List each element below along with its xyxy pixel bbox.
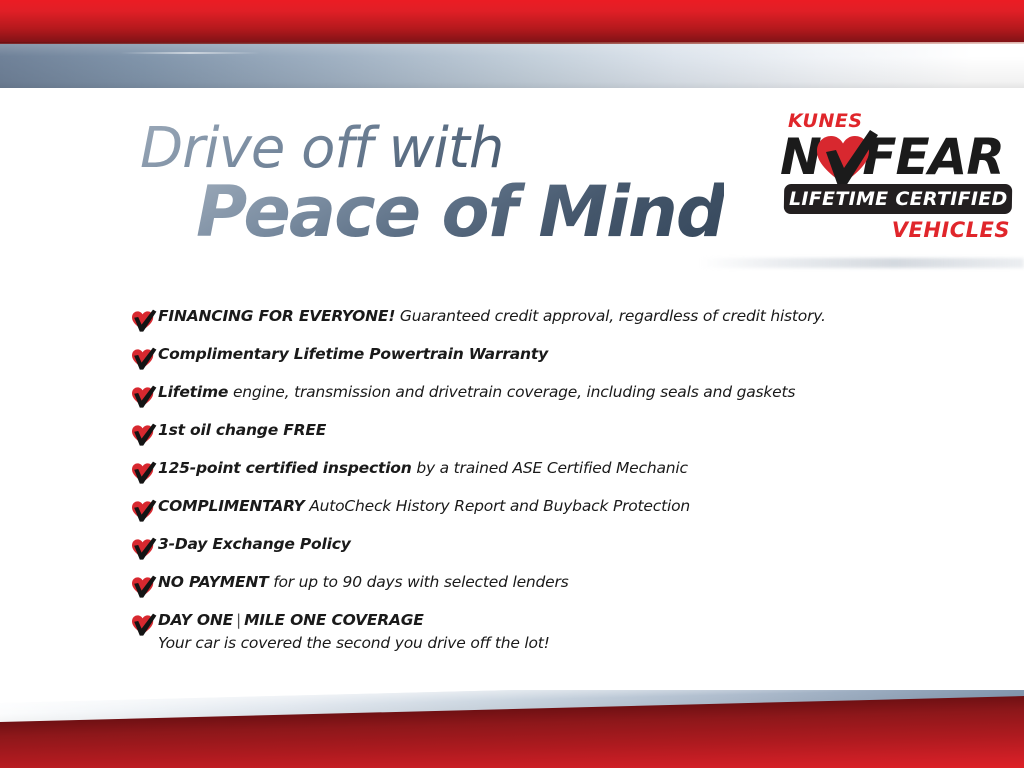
benefit-rest: engine, transmission and drivetrain cove… — [228, 383, 795, 401]
benefit-day-one-part-a: DAY ONE — [158, 611, 233, 629]
benefit-strong: NO PAYMENT — [158, 573, 268, 591]
benefit-strong: 125-point certified inspection — [158, 459, 412, 477]
heart-check-bullet-icon — [130, 385, 158, 409]
heart-check-icon — [812, 130, 878, 188]
heart-check-bullet-icon — [130, 613, 158, 637]
benefit-row: Complimentary Lifetime Powertrain Warran… — [130, 346, 930, 371]
benefit-day-one-separator: | — [233, 611, 244, 629]
heart-check-bullet-icon — [130, 423, 158, 447]
promo-page: Drive off with Peace of Mind KUNES NOFEA… — [0, 0, 1024, 768]
top-red-band — [0, 0, 1024, 43]
benefit-strong: 3-Day Exchange Policy — [158, 535, 351, 553]
benefit-text: FINANCING FOR EVERYONE! Guaranteed credi… — [158, 308, 826, 326]
benefit-row: 125-point certified inspection by a trai… — [130, 460, 930, 485]
benefits-list: FINANCING FOR EVERYONE! Guaranteed credi… — [130, 308, 930, 652]
benefit-rest: Guaranteed credit approval, regardless o… — [395, 307, 826, 325]
heart-check-bullet-icon — [130, 499, 158, 523]
kunes-no-fear-logo: KUNES NOFEAR LIFETIME CERTIFIED VEHICLES — [778, 108, 1016, 248]
benefit-row: 3-Day Exchange Policy — [130, 536, 930, 561]
benefit-row: FINANCING FOR EVERYONE! Guaranteed credi… — [130, 308, 930, 333]
benefit-strong: COMPLIMENTARY — [158, 497, 304, 515]
benefit-row: 1st oil change FREE — [130, 422, 930, 447]
benefit-text: 1st oil change FREE — [158, 422, 326, 440]
benefit-row: NO PAYMENT for up to 90 days with select… — [130, 574, 930, 599]
benefit-text: 125-point certified inspection by a trai… — [158, 460, 688, 478]
benefit-text: Complimentary Lifetime Powertrain Warran… — [158, 346, 548, 364]
benefit-strong: FINANCING FOR EVERYONE! — [158, 307, 395, 325]
benefit-rest: for up to 90 days with selected lenders — [268, 573, 568, 591]
top-gray-band-highlight — [120, 52, 260, 54]
logo-lifetime-certified-text: LIFETIME CERTIFIED — [789, 188, 1008, 210]
benefit-strong: 1st oil change FREE — [158, 421, 326, 439]
heart-check-bullet-icon — [130, 575, 158, 599]
benefit-strong: Complimentary Lifetime Powertrain Warran… — [158, 345, 548, 363]
logo-vehicles-text: VEHICLES — [892, 218, 1010, 242]
heart-check-bullet-icon — [130, 347, 158, 371]
benefit-day-one-part-b: MILE ONE COVERAGE — [244, 611, 424, 629]
top-gray-band-shading — [0, 44, 1024, 88]
headline-block: Drive off with Peace of Mind — [140, 122, 724, 246]
benefit-text: 3-Day Exchange Policy — [158, 536, 351, 554]
benefit-text: Lifetime engine, transmission and drivet… — [158, 384, 795, 402]
heart-check-bullet-icon — [130, 461, 158, 485]
benefit-day-one-heading: DAY ONE|MILE ONE COVERAGE — [158, 612, 550, 630]
bottom-band-group — [0, 690, 1024, 768]
benefit-text: NO PAYMENT for up to 90 days with select… — [158, 574, 569, 592]
benefit-row-day-one: DAY ONE|MILE ONE COVERAGEYour car is cov… — [130, 612, 930, 652]
benefit-day-one-subtext: Your car is covered the second you drive… — [158, 634, 550, 652]
benefit-row: Lifetime engine, transmission and drivet… — [130, 384, 930, 409]
heart-check-bullet-icon — [130, 309, 158, 333]
headline-line-2: Peace of Mind — [196, 179, 724, 246]
logo-lifetime-certified-bar: LIFETIME CERTIFIED — [784, 184, 1013, 214]
benefit-text: COMPLIMENTARY AutoCheck History Report a… — [158, 498, 690, 516]
benefit-rest: by a trained ASE Certified Mechanic — [412, 459, 688, 477]
benefit-row: COMPLIMENTARY AutoCheck History Report a… — [130, 498, 930, 523]
heart-check-bullet-icon — [130, 537, 158, 561]
benefit-strong: Lifetime — [158, 383, 228, 401]
benefit-day-one-block: DAY ONE|MILE ONE COVERAGEYour car is cov… — [158, 612, 550, 652]
benefit-rest: AutoCheck History Report and Buyback Pro… — [304, 497, 690, 515]
headline-line-1: Drive off with — [140, 122, 724, 175]
headline-divider — [700, 258, 1024, 268]
logo-word-fear: FEAR — [862, 128, 1004, 186]
